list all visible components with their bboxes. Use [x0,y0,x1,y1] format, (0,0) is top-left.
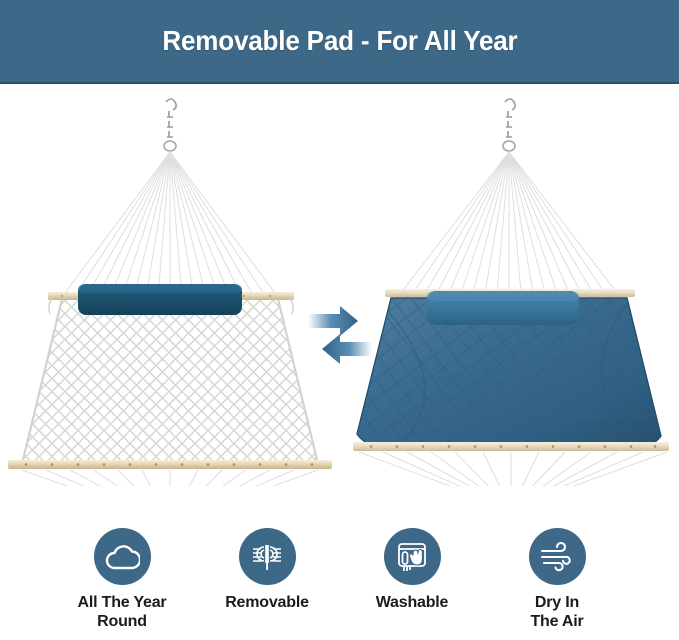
arrow-left-icon [322,334,372,364]
bottom-spreader-bar [353,442,669,451]
suspension-ropes-top [401,152,617,293]
feature-list: All The Year Round Removable [0,528,679,640]
feature-label: Washable [376,594,449,613]
bottom-spreader-bar [8,460,332,469]
arrow-right-icon [308,306,358,336]
cloud-icon [104,542,140,572]
feature-item-removable: Removable [197,528,337,613]
feature-label: Dry In The Air [530,594,583,632]
page-title: Removable Pad - For All Year [162,25,517,57]
header-banner: Removable Pad - For All Year [0,0,679,84]
hammock-pillow [427,291,579,325]
feature-item-washable: Washable [342,528,482,613]
arrows-svg [306,304,376,366]
exchange-arrows [306,304,376,366]
product-infographic: Removable Pad - For All Year [0,0,679,640]
hanging-chain-icon [503,99,515,151]
suspension-ropes-top [62,152,278,297]
feature-label: Removable [225,594,309,613]
suspension-ropes-bottom [359,452,667,486]
wind-icon-circle [529,528,586,585]
cloud-icon-circle [94,528,151,585]
hanging-chain-icon [164,99,176,151]
zipper-icon [249,541,285,573]
feature-item-dry-in-the-air: Dry In The Air [487,528,627,632]
feature-item-all-the-year-round: All The Year Round [52,528,192,632]
hand-wash-icon-circle [384,528,441,585]
padded-hammock-illustration [339,86,679,486]
suspension-ropes-bottom [22,470,318,486]
product-illustration [0,86,679,486]
hand-wash-icon [394,540,430,574]
feature-label: All The Year Round [78,594,167,632]
rope-hammock-svg [0,86,340,486]
padded-hammock-svg [339,86,679,486]
zipper-icon-circle [239,528,296,585]
rope-hammock-illustration [0,86,340,486]
wind-icon [539,542,575,572]
hammock-pillow [78,284,242,315]
